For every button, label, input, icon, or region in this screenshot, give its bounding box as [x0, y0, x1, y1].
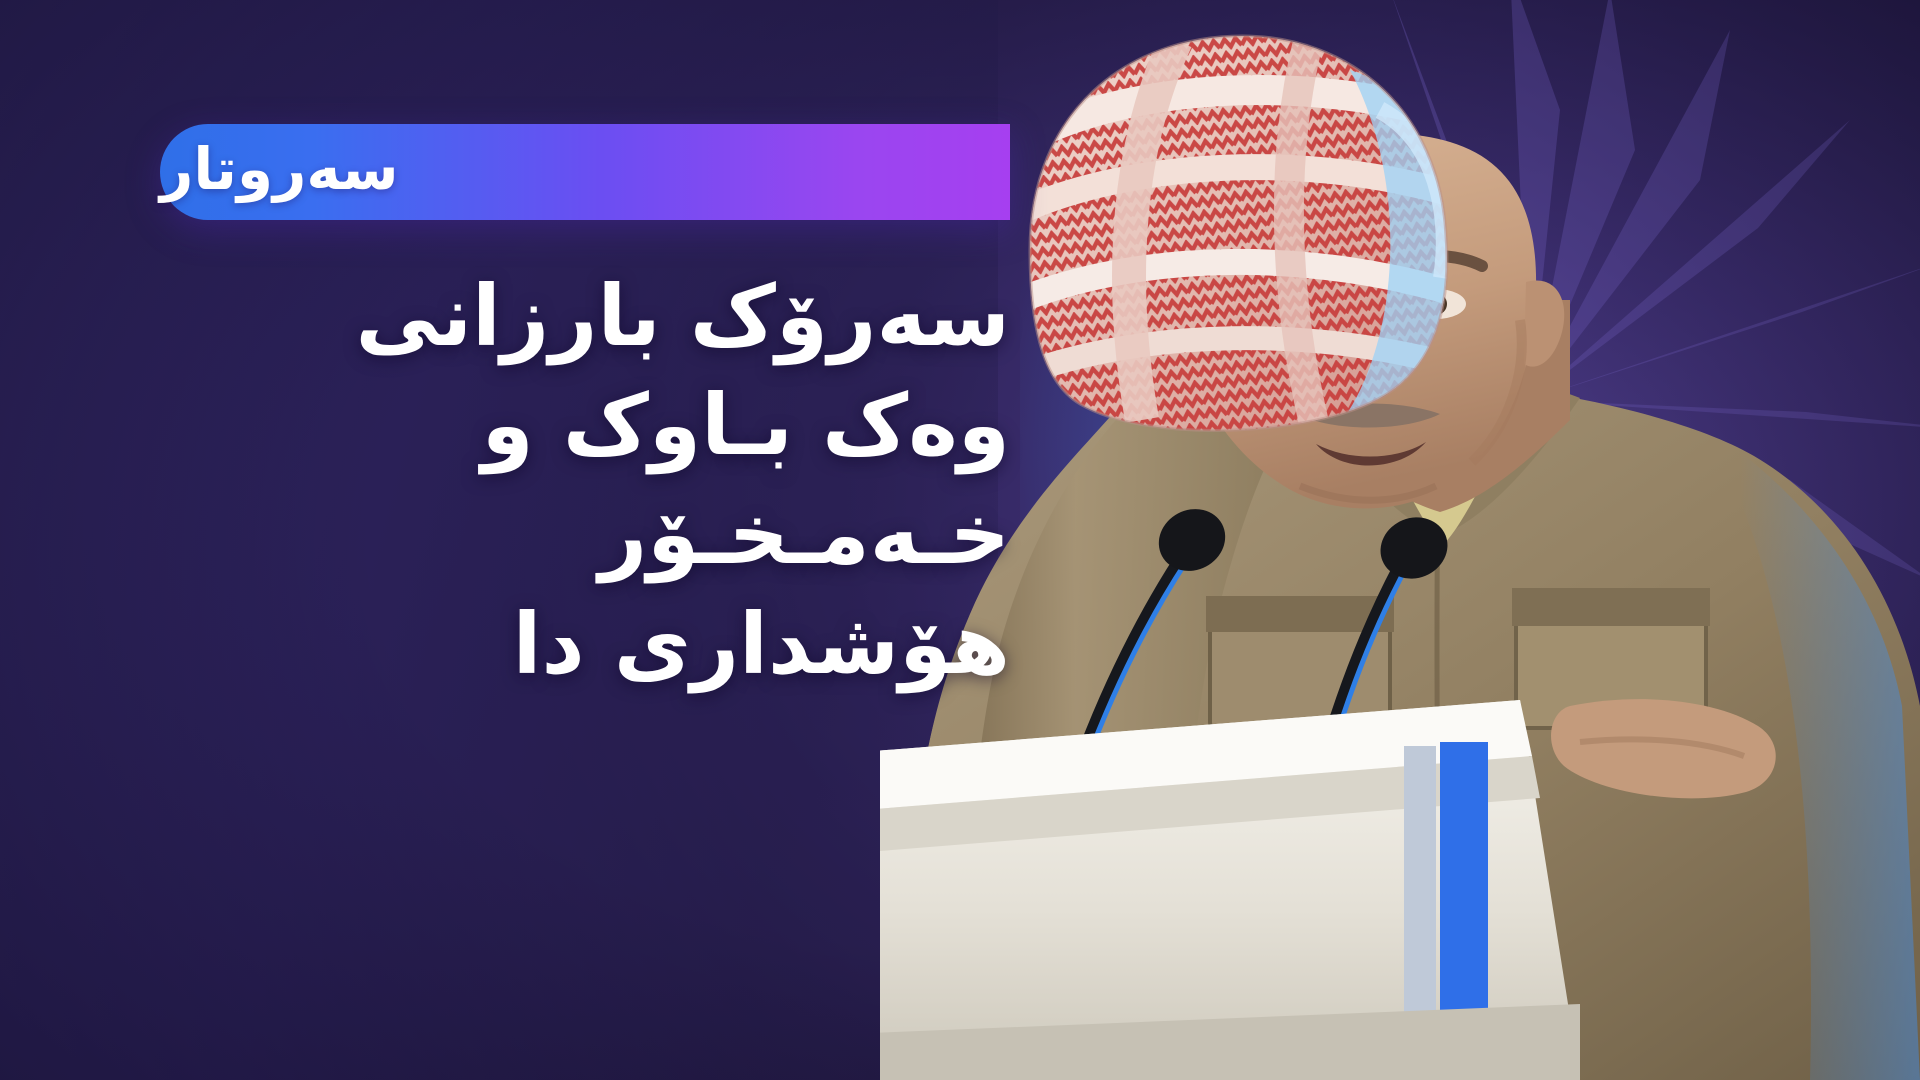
news-banner: سەروتار سەرۆک بارزانی وەک بـاوک و خـەمـخ…: [0, 0, 1920, 1080]
headline-line-1: سەرۆک بارزانی: [150, 262, 1010, 371]
headline: سەرۆک بارزانی وەک بـاوک و خـەمـخـۆر هۆشد…: [150, 262, 1010, 699]
headline-line-2: وەک بـاوک و: [150, 371, 1010, 480]
headline-line-3: خـەمـخـۆر: [150, 480, 1010, 589]
headline-line-4: هۆشداری دا: [150, 590, 1010, 699]
category-badge[interactable]: سەروتار: [160, 124, 1010, 220]
speaker-photo: [880, 0, 1920, 1080]
category-badge-label: سەروتار: [160, 140, 447, 198]
text-column: سەروتار سەرۆک بارزانی وەک بـاوک و خـەمـخ…: [0, 0, 1010, 1080]
